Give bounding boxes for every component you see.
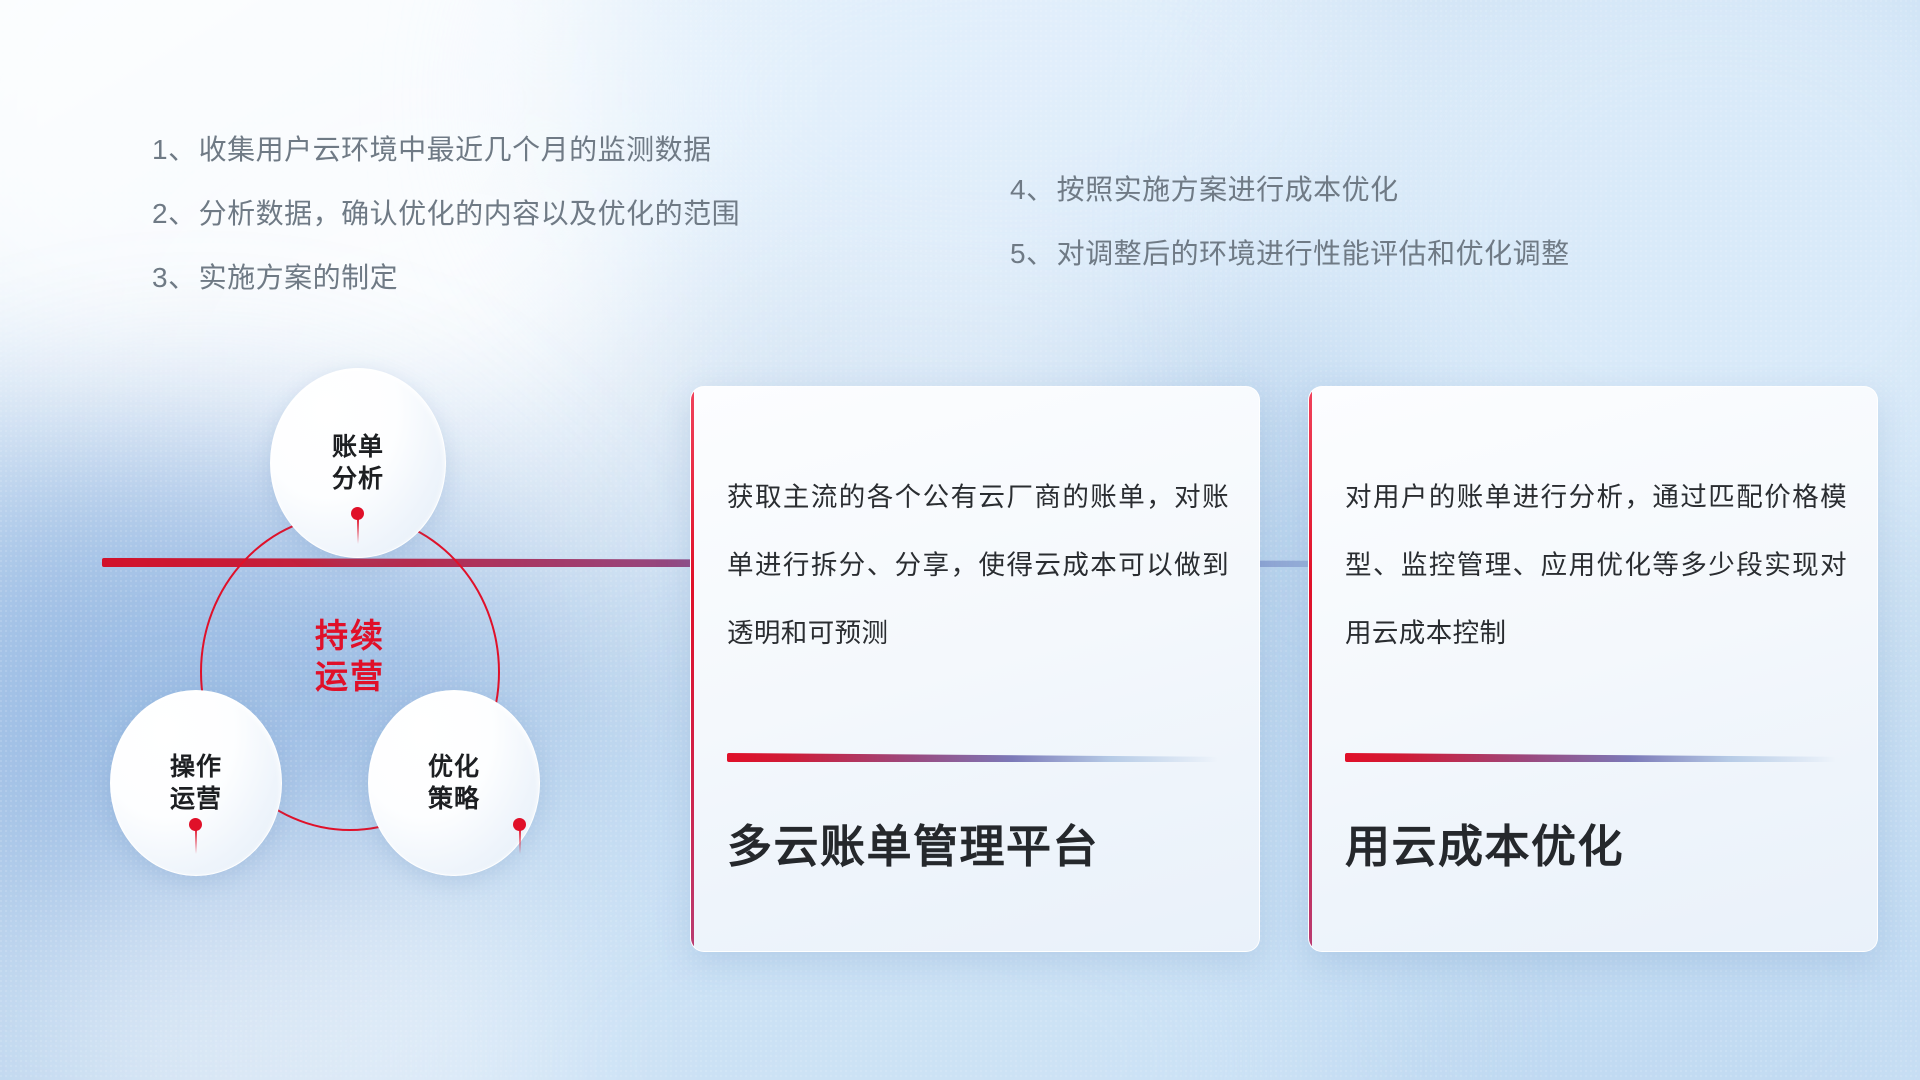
venn-bubble-optimization-strategy[interactable]: 优化 策略: [368, 690, 540, 876]
list-item-label: 分析数据，确认优化的内容以及优化的范围: [199, 198, 741, 229]
card-cloud-cost-optimization[interactable]: 对用户的账单进行分析，通过匹配价格模型、监控管理、应用优化等多少段实现对用云成本…: [1308, 386, 1878, 952]
card-body-text: 获取主流的各个公有云厂商的账单，对账单进行拆分、分享，使得云成本可以做到透明和可…: [727, 463, 1229, 667]
list-item-label: 按照实施方案进行成本优化: [1057, 174, 1399, 205]
steps-left-column: 1、收集用户云环境中最近几个月的监测数据 2、分析数据，确认优化的内容以及优化的…: [152, 118, 740, 310]
node-stem: [519, 828, 521, 854]
venn-diagram: 持续 运营 账单 分析 操作 运营 优化 策略: [100, 360, 630, 940]
card-rule: [727, 753, 1219, 762]
list-item: 2、分析数据，确认优化的内容以及优化的范围: [152, 182, 740, 246]
list-item-number: 2、: [152, 198, 197, 229]
card-body-text: 对用户的账单进行分析，通过匹配价格模型、监控管理、应用优化等多少段实现对用云成本…: [1345, 463, 1847, 667]
node-dot-icon: [189, 818, 202, 831]
venn-bubble-label: 操作 运营: [170, 751, 222, 815]
list-item-number: 1、: [152, 134, 197, 165]
venn-bubble-label-line1: 操作: [170, 751, 222, 783]
list-item-label: 实施方案的制定: [199, 262, 399, 293]
card-rule-bar: [727, 753, 1219, 762]
center-label: 持续 运营: [200, 615, 500, 697]
card-title: 用云成本优化: [1345, 817, 1847, 877]
venn-bubble-label-line1: 优化: [428, 751, 480, 783]
node-stem: [357, 518, 359, 544]
venn-bubble-label-line2: 运营: [170, 783, 222, 815]
venn-bubble-label: 优化 策略: [428, 751, 480, 815]
list-item: 4、按照实施方案进行成本优化: [1010, 158, 1570, 222]
list-item-number: 3、: [152, 262, 197, 293]
node-dot-icon: [351, 507, 364, 520]
venn-bubble-label-line1: 账单: [332, 431, 384, 463]
card-rule: [1345, 753, 1837, 762]
list-item-label: 收集用户云环境中最近几个月的监测数据: [199, 134, 712, 165]
node-stem: [195, 828, 197, 854]
card-multi-cloud-billing[interactable]: 获取主流的各个公有云厂商的账单，对账单进行拆分、分享，使得云成本可以做到透明和可…: [690, 386, 1260, 952]
list-item: 1、收集用户云环境中最近几个月的监测数据: [152, 118, 740, 182]
center-label-line1: 持续: [200, 615, 500, 656]
list-item-label: 对调整后的环境进行性能评估和优化调整: [1057, 238, 1570, 269]
venn-bubble-label-line2: 分析: [332, 463, 384, 495]
venn-bubble-label-line2: 策略: [428, 783, 480, 815]
list-item: 3、实施方案的制定: [152, 246, 740, 310]
node-dot-icon: [513, 818, 526, 831]
list-item-number: 5、: [1010, 238, 1055, 269]
list-item-number: 4、: [1010, 174, 1055, 205]
venn-bubble-label: 账单 分析: [332, 431, 384, 495]
card-title: 多云账单管理平台: [727, 817, 1229, 877]
list-item: 5、对调整后的环境进行性能评估和优化调整: [1010, 222, 1570, 286]
card-rule-bar: [1345, 753, 1837, 762]
steps-right-column: 4、按照实施方案进行成本优化 5、对调整后的环境进行性能评估和优化调整: [1010, 158, 1570, 286]
